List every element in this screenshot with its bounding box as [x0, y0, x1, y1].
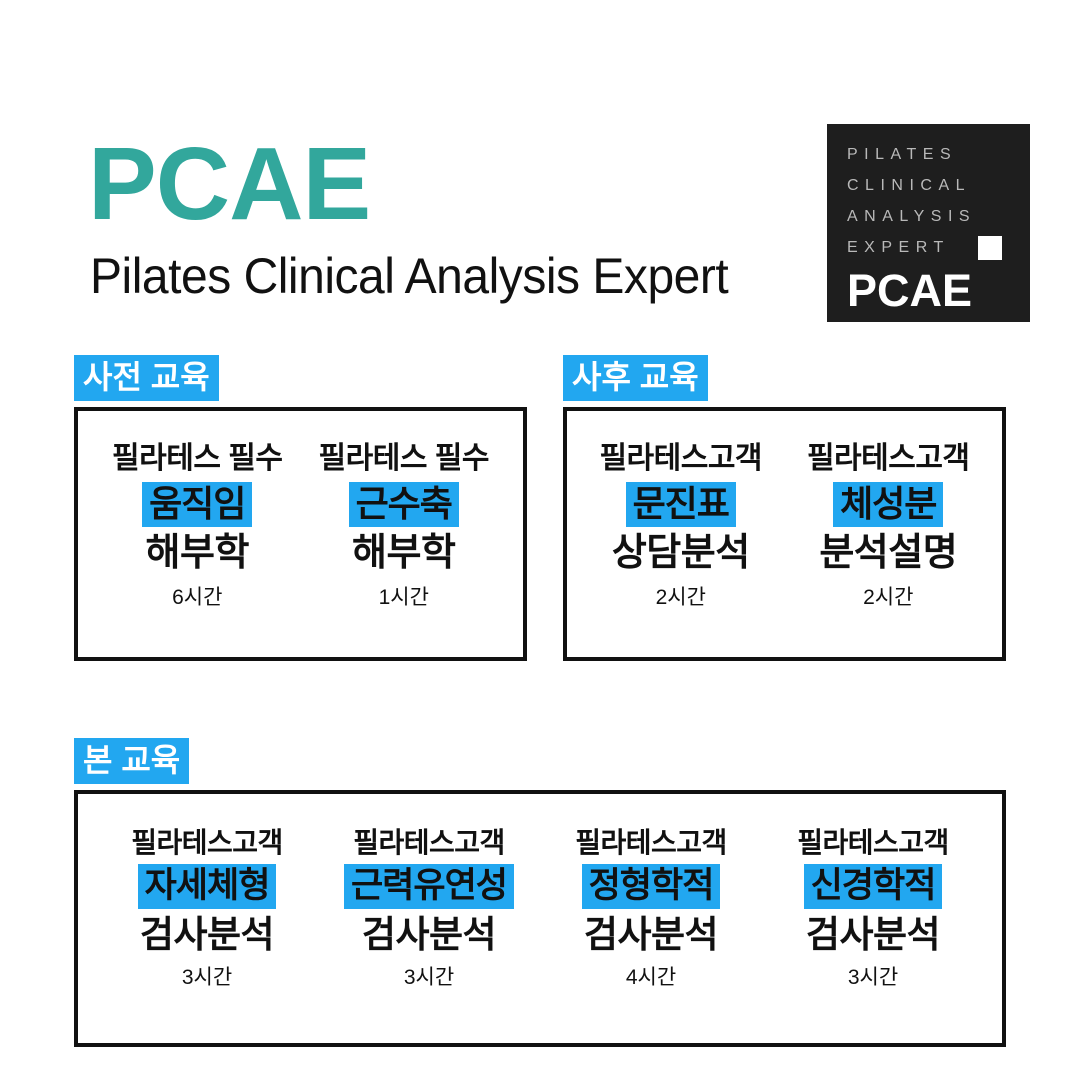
course-duration: 3시간 — [182, 967, 232, 988]
logo-line-expert: EXPERT — [847, 240, 950, 256]
course-bottom-label: 상담분석 — [612, 534, 750, 574]
course-top-label: 필라테스고객 — [353, 828, 505, 857]
course-duration: 3시간 — [848, 967, 898, 988]
logo-line-pilates: PILATES — [847, 147, 957, 163]
course-card[interactable]: 필라테스고객 문진표 상담분석 2시간 — [578, 443, 783, 608]
logo-line-clinical: CLINICAL — [847, 178, 971, 194]
badge-row: 사전 교육 — [74, 355, 527, 401]
badge-row: 사후 교육 — [563, 355, 1006, 401]
course-top-label: 필라테스 필수 — [112, 443, 282, 475]
course-top-label: 필라테스고객 — [807, 443, 970, 475]
section-pre-education: 사전 교육 필라테스 필수 움직임 해부학 6시간 필라테스 필수 근수축 해부… — [74, 355, 527, 661]
course-duration: 6시간 — [172, 587, 222, 608]
section-post-education: 사후 교육 필라테스고객 문진표 상담분석 2시간 필라테스고객 체성분 분석설… — [563, 355, 1006, 661]
course-bottom-label: 해부학 — [146, 534, 249, 574]
course-card[interactable]: 필라테스 필수 근수축 해부학 1시간 — [304, 443, 504, 608]
logo-line-analysis: ANALYSIS — [847, 209, 976, 225]
section-badge-main: 본 교육 — [74, 738, 189, 784]
course-bottom-label: 검사분석 — [362, 916, 496, 955]
course-card[interactable]: 필라테스고객 정형학적 검사분석 4시간 — [544, 828, 759, 988]
pcae-logo: PILATES CLINICAL ANALYSIS EXPERT PCAE — [827, 124, 1030, 322]
course-highlight-label: 자세체형 — [138, 864, 277, 909]
logo-wordmark: PCAE — [847, 268, 972, 313]
course-card[interactable]: 필라테스고객 신경학적 검사분석 3시간 — [766, 828, 981, 988]
course-card[interactable]: 필라테스고객 자세체형 검사분석 3시간 — [100, 828, 315, 988]
section-badge-pre: 사전 교육 — [74, 355, 219, 401]
course-highlight-label: 신경학적 — [804, 864, 943, 909]
course-highlight-label: 근수축 — [349, 482, 459, 528]
filled-square-icon — [978, 236, 1002, 260]
course-highlight-label: 문진표 — [626, 482, 736, 528]
course-bottom-label: 검사분석 — [140, 916, 274, 955]
course-duration: 2시간 — [656, 587, 706, 608]
course-bottom-label: 검사분석 — [806, 916, 940, 955]
course-card[interactable]: 필라테스 필수 움직임 해부학 6시간 — [97, 443, 297, 608]
course-duration: 2시간 — [863, 587, 913, 608]
course-bottom-label: 분석설명 — [819, 534, 957, 574]
course-highlight-label: 정형학적 — [582, 864, 721, 909]
course-card[interactable]: 필라테스고객 근력유연성 검사분석 3시간 — [322, 828, 537, 988]
panel-post-education: 필라테스고객 문진표 상담분석 2시간 필라테스고객 체성분 분석설명 2시간 — [563, 407, 1006, 661]
course-top-label: 필라테스고객 — [599, 443, 762, 475]
course-duration: 3시간 — [404, 967, 454, 988]
page-header: PCAE Pilates Clinical Analysis Expert PI… — [0, 0, 1080, 340]
panel-pre-education: 필라테스 필수 움직임 해부학 6시간 필라테스 필수 근수축 해부학 1시간 — [74, 407, 527, 661]
badge-row: 본 교육 — [74, 738, 1006, 784]
course-highlight-label: 근력유연성 — [344, 864, 514, 909]
course-duration: 1시간 — [379, 587, 429, 608]
course-top-label: 필라테스고객 — [575, 828, 727, 857]
section-main-education: 본 교육 필라테스고객 자세체형 검사분석 3시간 필라테스고객 근력유연성 검… — [74, 738, 1006, 1047]
course-highlight-label: 체성분 — [833, 482, 943, 528]
course-card[interactable]: 필라테스고객 체성분 분석설명 2시간 — [786, 443, 991, 608]
course-bottom-label: 해부학 — [352, 534, 455, 574]
course-top-label: 필라테스 필수 — [319, 443, 489, 475]
course-bottom-label: 검사분석 — [584, 916, 718, 955]
course-highlight-label: 움직임 — [142, 482, 252, 528]
page-subtitle: Pilates Clinical Analysis Expert — [90, 251, 728, 301]
page-title: PCAE — [88, 132, 370, 235]
course-top-label: 필라테스고객 — [797, 828, 949, 857]
section-badge-post: 사후 교육 — [563, 355, 708, 401]
panel-main-education: 필라테스고객 자세체형 검사분석 3시간 필라테스고객 근력유연성 검사분석 3… — [74, 790, 1006, 1047]
course-duration: 4시간 — [626, 967, 676, 988]
course-top-label: 필라테스고객 — [131, 828, 283, 857]
